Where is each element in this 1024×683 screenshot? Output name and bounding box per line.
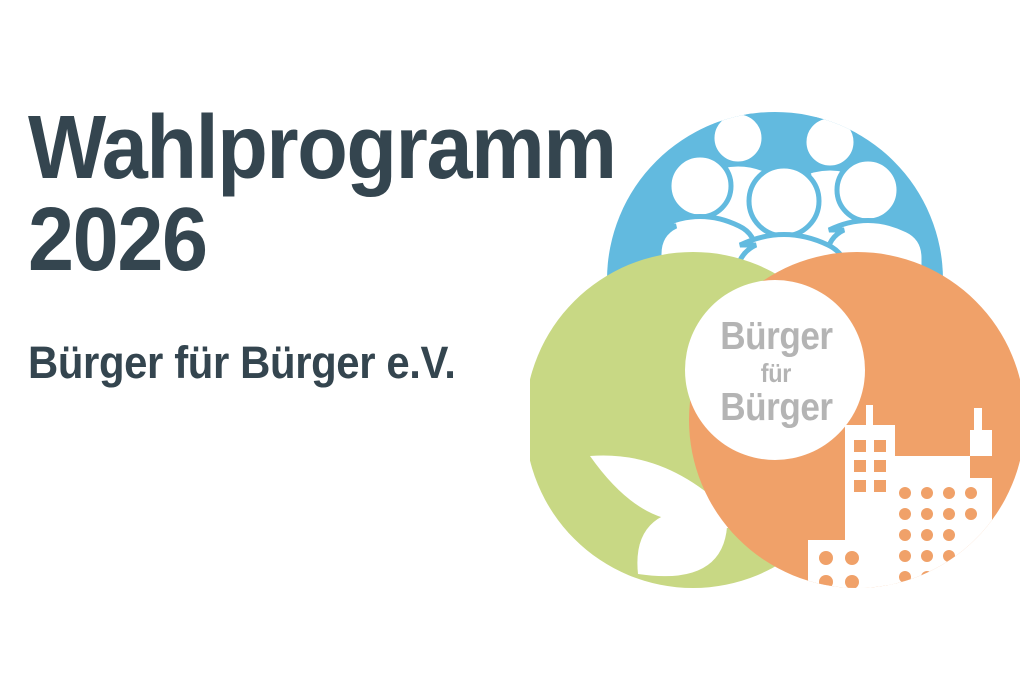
page-title-year: 2026: [28, 196, 598, 284]
page-title-line-1: Wahlprogramm: [28, 104, 598, 192]
organization-logo: [530, 100, 1020, 600]
organization-name: Bürger für Bürger e.V.: [28, 340, 605, 385]
poster-canvas: Wahlprogramm 2026 Bürger für Bürger e.V.: [0, 0, 1024, 683]
logo-center-disc: [685, 280, 865, 460]
